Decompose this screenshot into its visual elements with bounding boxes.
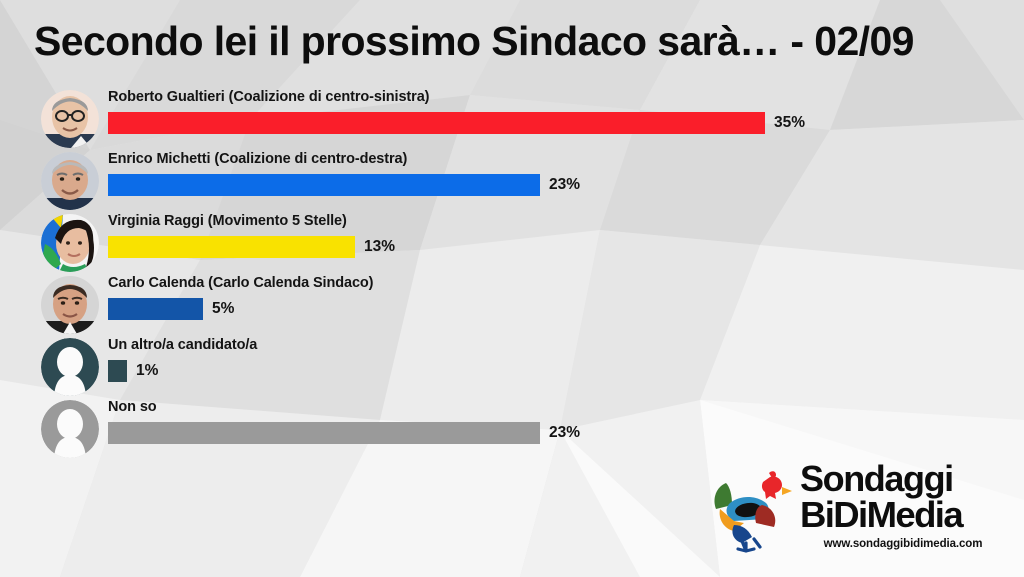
brand-logo: Sondaggi BiDiMedia www.sondaggibidimedia… bbox=[696, 461, 1006, 569]
bar-altro-candidato bbox=[108, 360, 127, 382]
bar-gualtieri bbox=[108, 112, 765, 134]
chart-row: Carlo Calenda (Carlo Calenda Sindaco) 5% bbox=[0, 274, 1024, 336]
bar-raggi bbox=[108, 236, 355, 258]
chart-row: Un altro/a candidato/a 1% bbox=[0, 336, 1024, 398]
bar-value: 23% bbox=[549, 176, 580, 194]
chart-row: Enrico Michetti (Coalizione di centro-de… bbox=[0, 150, 1024, 212]
avatar-raggi bbox=[41, 214, 99, 272]
logo-url: www.sondaggibidimedia.com bbox=[800, 538, 1006, 550]
bar-line: 35% bbox=[108, 112, 805, 134]
bar-value: 1% bbox=[136, 362, 158, 380]
bar-line: 13% bbox=[108, 236, 395, 258]
bar-non-so bbox=[108, 422, 540, 444]
bar-value: 13% bbox=[364, 238, 395, 256]
row-label: Virginia Raggi (Movimento 5 Stelle) bbox=[108, 213, 347, 229]
row-label: Carlo Calenda (Carlo Calenda Sindaco) bbox=[108, 275, 373, 291]
row-label: Non so bbox=[108, 399, 157, 415]
avatar-gualtieri bbox=[41, 90, 99, 148]
avatar-non-so bbox=[41, 400, 99, 458]
bar-line: 23% bbox=[108, 422, 580, 444]
avatar-altro-candidato bbox=[41, 338, 99, 396]
logo-line-2: BiDiMedia bbox=[800, 497, 1006, 533]
bar-chart: Roberto Gualtieri (Coalizione di centro-… bbox=[0, 88, 1024, 460]
bar-michetti bbox=[108, 174, 540, 196]
row-label: Roberto Gualtieri (Coalizione di centro-… bbox=[108, 89, 429, 105]
chart-row: Non so 23% bbox=[0, 398, 1024, 460]
avatar-calenda bbox=[41, 276, 99, 334]
row-label: Enrico Michetti (Coalizione di centro-de… bbox=[108, 151, 407, 167]
poll-infographic: Secondo lei il prossimo Sindaco sarà… - … bbox=[0, 0, 1024, 577]
rooster-italy-icon bbox=[696, 465, 796, 553]
bar-line: 5% bbox=[108, 298, 234, 320]
bar-value: 5% bbox=[212, 300, 234, 318]
bar-value: 23% bbox=[549, 424, 580, 442]
logo-line-1: Sondaggi bbox=[800, 461, 1006, 497]
row-label: Un altro/a candidato/a bbox=[108, 337, 257, 353]
bar-line: 23% bbox=[108, 174, 580, 196]
bar-line: 1% bbox=[108, 360, 158, 382]
chart-row: Roberto Gualtieri (Coalizione di centro-… bbox=[0, 88, 1024, 150]
chart-row: Virginia Raggi (Movimento 5 Stelle) 13% bbox=[0, 212, 1024, 274]
avatar-michetti bbox=[41, 152, 99, 210]
logo-wordmark: Sondaggi BiDiMedia www.sondaggibidimedia… bbox=[800, 461, 1006, 550]
bar-calenda bbox=[108, 298, 203, 320]
page-title: Secondo lei il prossimo Sindaco sarà… - … bbox=[34, 16, 914, 66]
bar-value: 35% bbox=[774, 114, 805, 132]
